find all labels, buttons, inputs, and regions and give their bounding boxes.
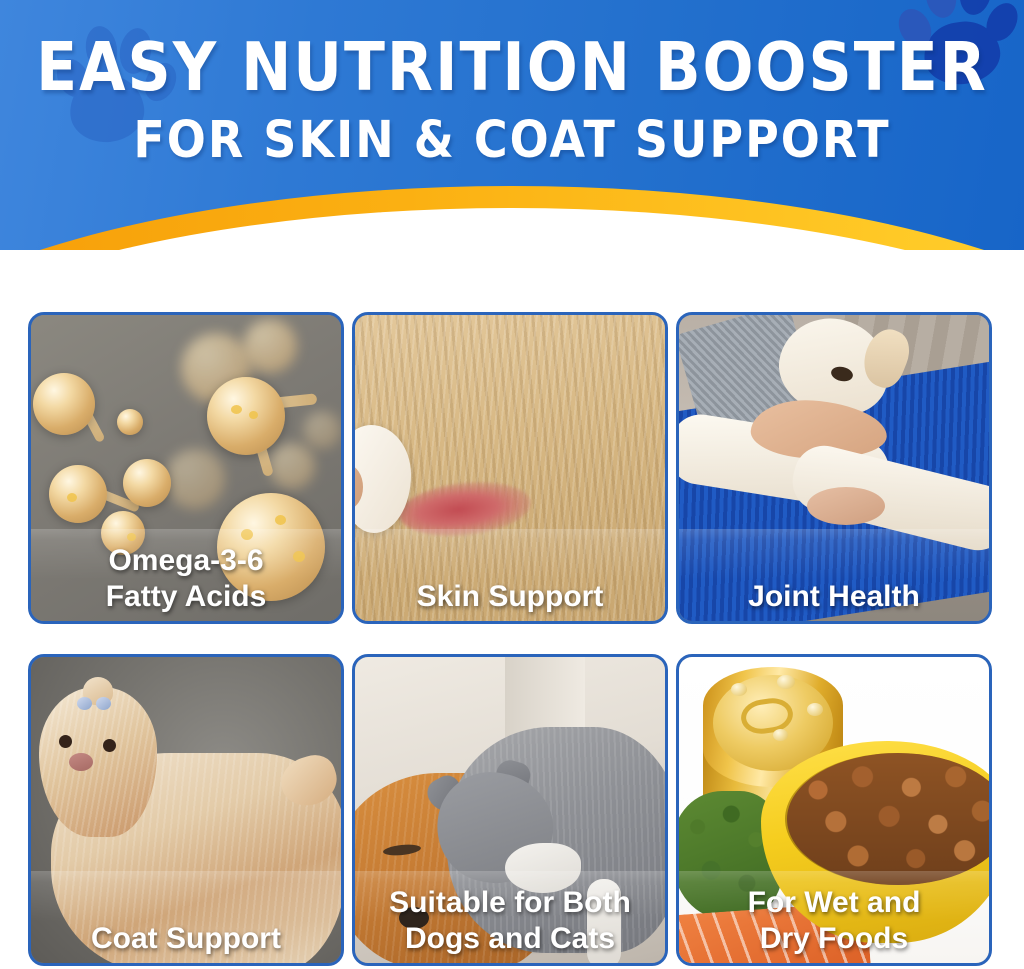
card-caption: Omega-3-6 Fatty Acids (98, 543, 275, 615)
card-caption-band: Coat Support (31, 871, 341, 963)
dog-nose (69, 753, 93, 771)
card-caption-band: Joint Health (679, 529, 989, 621)
card-caption: Joint Health (740, 579, 928, 615)
caption-line-2: Dogs and Cats (405, 922, 615, 955)
hair-bow (77, 697, 111, 711)
feature-card-skin-support[interactable]: Skin Support (352, 312, 668, 624)
feature-card-omega-3-6-fatty-acids[interactable]: Omega-3-6 Fatty Acids (28, 312, 344, 624)
page-title: EASY NUTRITION BOOSTER (0, 34, 1024, 101)
feature-card-wet-and-dry-foods[interactable]: For Wet and Dry Foods (676, 654, 992, 966)
caption-line-1: Suitable for Both (389, 886, 631, 919)
caption-line-1: For Wet and (748, 886, 921, 919)
dog-eye (103, 739, 116, 752)
card-caption: Coat Support (83, 921, 289, 957)
caption-line-2: Fatty Acids (106, 580, 267, 613)
caption-line-1: Omega-3-6 (108, 544, 263, 577)
header-banner: EASY NUTRITION BOOSTER FOR SKIN & COAT S… (0, 0, 1024, 250)
feature-card-coat-support[interactable]: Coat Support (28, 654, 344, 966)
infographic-page: EASY NUTRITION BOOSTER FOR SKIN & COAT S… (0, 0, 1024, 969)
dog-eye (59, 735, 72, 748)
card-caption: Skin Support (409, 579, 612, 615)
header-text-block: EASY NUTRITION BOOSTER FOR SKIN & COAT S… (0, 0, 1024, 160)
card-caption: For Wet and Dry Foods (740, 885, 929, 957)
card-caption: Suitable for Both Dogs and Cats (381, 885, 639, 957)
page-subtitle: FOR SKIN & COAT SUPPORT (0, 114, 1024, 165)
caption-line-2: Dry Foods (760, 922, 908, 955)
feature-card-dogs-and-cats[interactable]: Suitable for Both Dogs and Cats (352, 654, 668, 966)
card-caption-band: Omega-3-6 Fatty Acids (31, 529, 341, 621)
card-caption-band: Skin Support (355, 529, 665, 621)
feature-card-joint-health[interactable]: Joint Health (676, 312, 992, 624)
card-caption-band: Suitable for Both Dogs and Cats (355, 871, 665, 963)
dog-paw (807, 487, 885, 525)
card-caption-band: For Wet and Dry Foods (679, 871, 989, 963)
feature-card-grid: Omega-3-6 Fatty Acids Skin Support (28, 312, 996, 966)
